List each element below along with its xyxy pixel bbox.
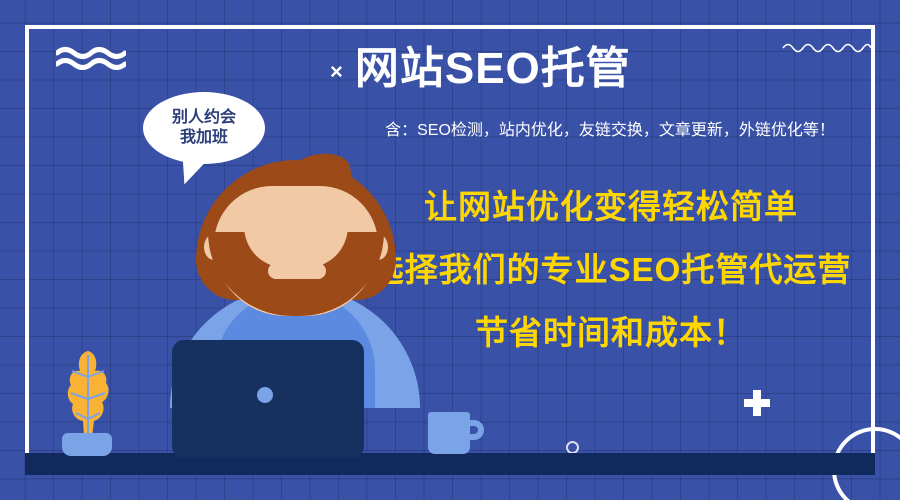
desk-surface — [25, 453, 875, 475]
multiply-icon: × — [330, 61, 343, 83]
laptop-logo-icon — [257, 387, 273, 403]
mouth — [268, 263, 326, 279]
person-illustration — [170, 160, 420, 360]
plant-pot — [62, 433, 112, 456]
banner-header: × 网站SEO托管 — [330, 46, 890, 92]
speech-bubble-line-2: 我加班 — [180, 128, 228, 148]
coffee-mug — [428, 412, 470, 454]
seo-banner: × 网站SEO托管 含：SEO检测，站内优化，友链交换，文章更新，外链优化等！ … — [0, 0, 900, 500]
speech-bubble-line-1: 别人约会 — [172, 108, 236, 128]
potted-plant-icon — [58, 347, 118, 439]
plus-icon — [744, 390, 770, 416]
banner-subtitle: 含：SEO检测，站内优化，友链交换，文章更新，外链优化等！ — [330, 120, 890, 142]
double-wave-icon — [56, 46, 126, 70]
page-title: 网站SEO托管 — [355, 46, 631, 92]
speech-bubble: 别人约会 我加班 — [143, 92, 265, 164]
